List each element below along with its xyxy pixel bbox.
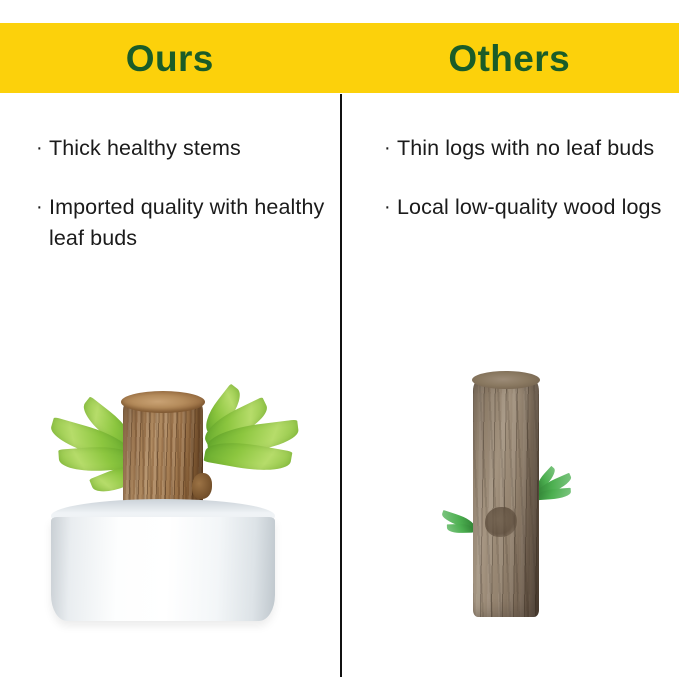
bullet-marker-icon: · <box>384 133 397 164</box>
white-ceramic-bowl-icon <box>51 517 275 621</box>
list-item: · Local low-quality wood logs <box>384 192 662 223</box>
bullet-text: Thin logs with no leaf buds <box>397 133 662 164</box>
bullet-text: Local low-quality wood logs <box>397 192 662 223</box>
potted-log-illustration <box>25 351 315 621</box>
header-cell-ours: Ours <box>0 23 340 93</box>
column-others: · Thin logs with no leaf buds · Local lo… <box>342 93 679 679</box>
bullet-text: Imported quality with healthy leaf buds <box>49 192 328 254</box>
header-cell-others: Others <box>340 23 679 93</box>
product-image-others <box>342 329 679 679</box>
list-item: · Thick healthy stems <box>36 133 328 164</box>
column-ours: · Thick healthy stems · Imported quality… <box>0 93 340 679</box>
bullet-list-ours: · Thick healthy stems · Imported quality… <box>36 133 328 282</box>
sprout-icon <box>446 524 472 534</box>
bare-log-illustration <box>411 357 611 617</box>
list-item: · Thin logs with no leaf buds <box>384 133 662 164</box>
bullet-marker-icon: · <box>384 192 397 223</box>
product-image-ours <box>0 329 340 679</box>
bullet-marker-icon: · <box>36 133 49 164</box>
comparison-infographic: Ours Others · Thick healthy stems · Impo… <box>0 0 679 679</box>
bullet-marker-icon: · <box>36 192 49 223</box>
list-item: · Imported quality with healthy leaf bud… <box>36 192 328 254</box>
bullet-text: Thick healthy stems <box>49 133 328 164</box>
page-title-others: Others <box>448 40 570 77</box>
header-band: Ours Others <box>0 23 679 93</box>
page-title-ours: Ours <box>126 40 214 77</box>
thin-log-icon <box>473 379 539 617</box>
bullet-list-others: · Thin logs with no leaf buds · Local lo… <box>384 133 662 251</box>
